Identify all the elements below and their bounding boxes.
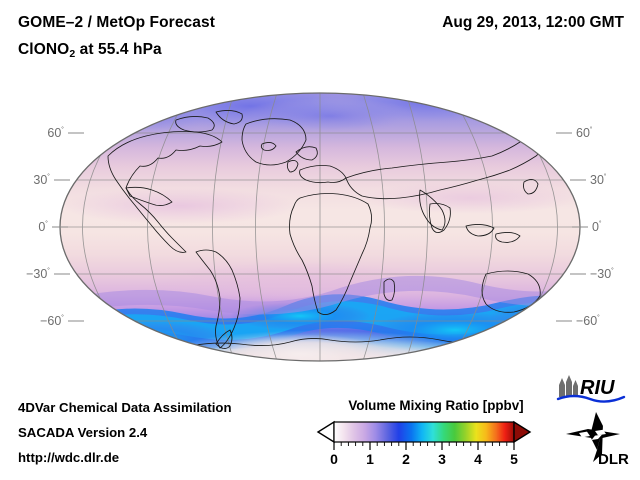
page-title: GOME–2 / MetOp Forecast <box>18 14 215 32</box>
timestamp-label: Aug 29, 2013, 12:00 GMT <box>442 14 624 32</box>
colorbar-extend-low <box>318 422 334 442</box>
lat-label-30s-left: −30˚ <box>26 267 50 281</box>
species-subscript: 2 <box>69 48 75 60</box>
lat-label-60s-right: −60˚ <box>576 314 600 328</box>
colorbar-gradient <box>334 422 514 442</box>
graticule <box>60 93 580 361</box>
lat-label-60s-left: −60˚ <box>40 314 64 328</box>
colorbar-extend-high <box>514 422 530 442</box>
lat-label-60n-left: 60˚ <box>47 126 64 140</box>
dlr-wordmark: DLR <box>598 451 629 468</box>
species-level: at 55.4 hPa <box>75 41 162 58</box>
credit-line-3[interactable]: http://wdc.dlr.de <box>18 450 119 465</box>
colorbar-title: Volume Mixing Ratio [ppbv] <box>331 398 541 413</box>
lat-label-0-left: 0˚ <box>38 220 48 234</box>
data-field <box>25 86 600 382</box>
riu-wordmark: RIU <box>580 377 615 399</box>
lat-label-30s-right: −30˚ <box>590 267 614 281</box>
colorbar-ticks <box>334 442 514 450</box>
lat-label-30n-right: 30˚ <box>590 173 607 187</box>
colorbar-tick-3: 3 <box>438 451 446 467</box>
species-subtitle: ClONO2 at 55.4 hPa <box>18 41 162 59</box>
colorbar-tick-2: 2 <box>402 451 410 467</box>
dlr-logo: DLR <box>562 410 632 468</box>
colorbar-tick-4: 4 <box>474 451 482 467</box>
riu-logo: RIU <box>556 373 632 405</box>
colorbar: 0 1 2 3 4 5 <box>316 420 532 468</box>
colorbar-minor-ticks <box>341 442 507 446</box>
colorbar-tick-5: 5 <box>510 451 518 467</box>
map-panel: 60˚ 30˚ 0˚ −30˚ −60˚ 60˚ 30˚ 0˚ −30˚ −60… <box>0 86 640 382</box>
lat-label-30n-left: 30˚ <box>33 173 50 187</box>
lat-label-60n-right: 60˚ <box>576 126 593 140</box>
credit-line-1: 4DVar Chemical Data Assimilation <box>18 400 232 415</box>
credit-line-2: SACADA Version 2.4 <box>18 425 147 440</box>
colorbar-tick-1: 1 <box>366 451 374 467</box>
riu-towers-icon <box>559 375 578 397</box>
lat-label-0-right: 0˚ <box>592 220 602 234</box>
colorbar-tick-0: 0 <box>330 451 338 467</box>
instrument-label: GOME–2 / MetOp Forecast <box>18 14 215 31</box>
